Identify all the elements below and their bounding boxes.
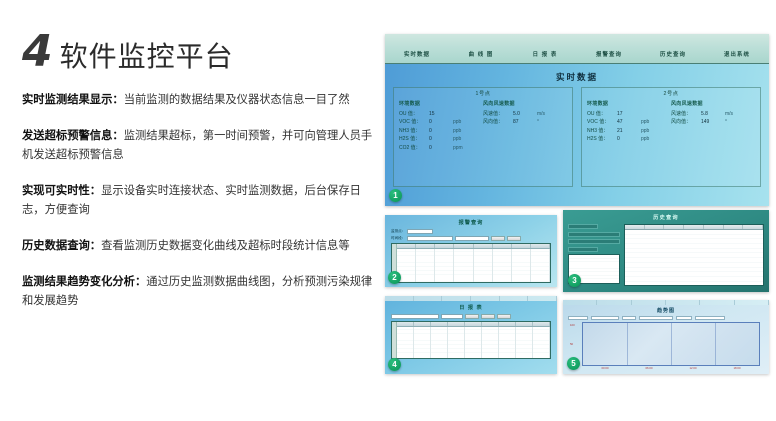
app-menubar: [563, 300, 769, 305]
data-row: VOC 值： 0 ppb: [399, 118, 483, 127]
query-button[interactable]: [676, 316, 692, 320]
menu-item[interactable]: [563, 300, 597, 305]
start-time-input[interactable]: [407, 236, 453, 241]
daily-report-title: 日 报 表: [391, 304, 551, 311]
table-columns: [397, 327, 550, 359]
alarm-query-title: 报警查询: [391, 219, 551, 226]
trend-chart-title: 趋势图: [568, 307, 764, 314]
env-data-group: 环境数据 OU 值： 15 VOC 值： 0 ppb: [399, 100, 483, 152]
date-input[interactable]: [591, 316, 619, 320]
query-button[interactable]: [465, 314, 479, 319]
menu-item[interactable]: [500, 296, 529, 301]
station-filter-label: 监测点：: [391, 229, 405, 234]
screenshot-realtime-data: 实时数据 曲 线 图 日 报 表 报警查询 历史查询 退出系统 实时数据 1号点…: [385, 34, 769, 206]
bullet-heading: 历史数据查询：: [22, 240, 101, 252]
data-value: 5.8: [701, 110, 725, 119]
wind-group-title: 风向风速数据: [483, 100, 567, 107]
trend-filter-row: [568, 316, 764, 320]
bullet-item: 历史数据查询：查看监测历史数据变化曲线及超标时段统计信息等: [22, 237, 382, 256]
env-group-title: 环境数据: [587, 100, 671, 107]
callout-badge-3: 3: [568, 274, 581, 287]
bullet-heading: 发送超标预警信息：: [22, 130, 124, 142]
table-columns: [397, 249, 550, 283]
station-select[interactable]: [407, 229, 433, 234]
station-panel-2: 2号点 环境数据 OU 值： 17 VOC 值： 47: [581, 87, 761, 187]
data-unit: ppb: [453, 118, 471, 127]
data-row: NH3 值： 21 ppb: [587, 127, 671, 136]
data-row: 风向值： 87 °: [483, 118, 567, 127]
data-label: VOC 值：: [587, 118, 617, 127]
callout-badge-4: 4: [388, 358, 401, 371]
range-input[interactable]: [639, 316, 673, 320]
menu-item-curve[interactable]: 曲 线 图: [449, 39, 513, 58]
data-label: 风速值：: [483, 110, 513, 119]
data-unit: ppb: [641, 135, 659, 144]
wind-group-title: 风向风速数据: [671, 100, 755, 107]
menu-item[interactable]: [597, 300, 631, 305]
y-tick-label: 50: [570, 342, 573, 346]
time-filter-label: 时间段：: [391, 236, 405, 241]
data-value: 0: [429, 144, 453, 153]
callout-badge-1: 1: [389, 189, 402, 202]
data-unit: ppb: [641, 127, 659, 136]
export-button[interactable]: [507, 236, 521, 241]
data-label: NH3 值：: [587, 127, 617, 136]
menu-item[interactable]: [385, 296, 414, 301]
menu-item[interactable]: [700, 300, 734, 305]
data-label: OU 值：: [587, 110, 617, 119]
menu-item-daily-report[interactable]: 日 报 表: [513, 39, 577, 58]
data-value: 15: [429, 110, 453, 119]
wind-data-group: 风向风速数据 风速值： 5.0 m/s 风向值： 87 °: [483, 100, 567, 152]
menu-item-alarm-query[interactable]: 报警查询: [577, 39, 641, 58]
menu-item[interactable]: [414, 296, 443, 301]
data-value: 5.0: [513, 110, 537, 119]
bullet-body: 当前监测的数据结果及仪器状态信息一目了然: [124, 94, 350, 106]
station-select[interactable]: [441, 314, 463, 319]
print-button[interactable]: [481, 314, 495, 319]
station-name: 1号点: [399, 90, 567, 97]
wind-data-group: 风向风速数据 风速值： 5.8 m/s 风向值： 149 °: [671, 100, 755, 144]
history-results-table[interactable]: [624, 224, 764, 286]
data-row: NH3 值： 0 ppb: [399, 127, 483, 136]
env-data-group: 环境数据 OU 值： 17 VOC 值： 47 ppb: [587, 100, 671, 144]
data-row: H2S 值： 0 ppb: [587, 135, 671, 144]
table-body: [397, 322, 550, 358]
menu-item[interactable]: [442, 296, 471, 301]
data-value: 87: [513, 118, 537, 127]
trend-chart-plot: 100 50 0 00:00 06:00 12:00 18:00: [582, 322, 760, 366]
bullet-heading: 监测结果趋势变化分析：: [22, 276, 146, 288]
data-label: H2S 值：: [587, 135, 617, 144]
menu-item[interactable]: [735, 300, 769, 305]
date-to-input[interactable]: [568, 239, 620, 244]
bullet-item: 监测结果趋势变化分析：通过历史监测数据曲线图，分析预测污染规律和发展趋势: [22, 273, 382, 311]
data-value: 0: [429, 118, 453, 127]
station-panel-1: 1号点 环境数据 OU 值： 15 VOC 值： 0: [393, 87, 573, 187]
data-label: OU 值：: [399, 110, 429, 119]
table-body: [397, 244, 550, 282]
menu-item-history-query[interactable]: 历史查询: [641, 39, 705, 58]
screenshot-alarm-query: 报警查询 监测点： 时间段： 2: [385, 215, 557, 287]
data-unit: [641, 110, 659, 119]
data-unit: m/s: [725, 110, 743, 119]
param-select[interactable]: [568, 247, 598, 252]
data-label: VOC 值：: [399, 118, 429, 127]
data-value: 0: [617, 135, 641, 144]
bullet-item: 实现可实时性：显示设备实时连接状态、实时监测数据，后台保存日志，方便查询: [22, 182, 382, 220]
export-button[interactable]: [497, 314, 511, 319]
screenshot-trend-chart: 趋势图 100 50 0 00:00 06:00 12:00 18:00: [563, 300, 769, 374]
data-unit: ppm: [453, 144, 471, 153]
end-time-input[interactable]: [455, 236, 489, 241]
date-from-input[interactable]: [568, 232, 620, 237]
menu-item-exit[interactable]: 退出系统: [705, 39, 769, 58]
table-header-row: [625, 225, 763, 230]
filter-row-station: 监测点：: [391, 229, 551, 234]
slide-number: 4: [22, 30, 52, 74]
data-label: CO2 值：: [399, 144, 429, 153]
bullet-item: 发送超标预警信息：监测结果超标，第一时间预警，并可向管理人员手机发送超标预警信息: [22, 127, 382, 165]
screenshot-daily-report: 日 报 表 4: [385, 296, 557, 374]
menu-item[interactable]: [528, 296, 557, 301]
realtime-body: 实时数据 1号点 环境数据 OU 值： 15: [385, 64, 769, 206]
x-tick-label: 18:00: [715, 366, 759, 370]
history-query-title: 历史查询: [568, 214, 764, 221]
query-button[interactable]: [491, 236, 505, 241]
data-label: NH3 值：: [399, 127, 429, 136]
data-label: H2S 值：: [399, 135, 429, 144]
alarm-results-table[interactable]: [391, 243, 551, 283]
x-tick-label: 00:00: [583, 366, 627, 370]
data-value: 149: [701, 118, 725, 127]
report-table[interactable]: [391, 321, 551, 359]
data-value: 17: [617, 110, 641, 119]
page-title: 4 软件监控平台: [22, 24, 382, 74]
station-name: 2号点: [587, 90, 755, 97]
app-menubar: [385, 296, 557, 301]
callout-badge-5: 5: [567, 357, 580, 370]
env-group-title: 环境数据: [399, 100, 483, 107]
screenshot-gallery: 实时数据 曲 线 图 日 报 表 报警查询 历史查询 退出系统 实时数据 1号点…: [385, 34, 770, 394]
data-unit: °: [537, 118, 555, 127]
slide-text-column: 4 软件监控平台 实时监测结果显示：当前监测的数据结果及仪器状态信息一目了然 发…: [22, 24, 382, 394]
realtime-title: 实时数据: [393, 71, 761, 83]
data-unit: ppb: [453, 127, 471, 136]
station-select[interactable]: [568, 316, 588, 320]
menu-item[interactable]: [471, 296, 500, 301]
data-row: 风向值： 149 °: [671, 118, 755, 127]
data-row: 风速值： 5.8 m/s: [671, 110, 755, 119]
data-label: 风向值：: [671, 118, 701, 127]
data-unit: m/s: [537, 110, 555, 119]
y-tick-label: 100: [570, 323, 575, 327]
slide-title-text: 软件监控平台: [60, 40, 234, 74]
data-unit: ppb: [453, 135, 471, 144]
menu-item[interactable]: [666, 300, 700, 305]
data-row: VOC 值： 47 ppb: [587, 118, 671, 127]
x-tick-label: 06:00: [627, 366, 671, 370]
data-row: OU 值： 15: [399, 110, 483, 119]
menu-item-realtime[interactable]: 实时数据: [385, 39, 449, 58]
data-row: 风速值： 5.0 m/s: [483, 110, 567, 119]
filter-row-time: 时间段：: [391, 236, 551, 241]
data-label: 风速值：: [671, 110, 701, 119]
bullet-heading: 实现可实时性：: [22, 185, 101, 197]
x-tick-label: 12:00: [671, 366, 715, 370]
data-label: 风向值：: [483, 118, 513, 127]
screenshot-history-query: 历史查询 3: [563, 210, 769, 292]
menu-item[interactable]: [632, 300, 666, 305]
data-value: 0: [429, 127, 453, 136]
date-input[interactable]: [391, 314, 439, 319]
x-axis-labels: 00:00 06:00 12:00 18:00: [583, 366, 759, 370]
legend-toggles[interactable]: [695, 316, 725, 320]
data-value: 0: [429, 135, 453, 144]
data-unit: [453, 110, 471, 119]
bullet-body: 查看监测历史数据变化曲线及超标时段统计信息等: [101, 240, 350, 252]
data-value: 47: [617, 118, 641, 127]
app-menubar: 实时数据 曲 线 图 日 报 表 报警查询 历史查询 退出系统: [385, 34, 769, 64]
data-value: 21: [617, 127, 641, 136]
station-select[interactable]: [568, 224, 598, 229]
bullet-item: 实时监测结果显示：当前监测的数据结果及仪器状态信息一目了然: [22, 91, 382, 110]
report-filter-row: [391, 314, 551, 319]
param-select[interactable]: [622, 316, 636, 320]
data-row: CO2 值： 0 ppm: [399, 144, 483, 153]
data-unit: ppb: [641, 118, 659, 127]
data-row: H2S 值： 0 ppb: [399, 135, 483, 144]
bullet-heading: 实时监测结果显示：: [22, 94, 124, 106]
data-unit: °: [725, 118, 743, 127]
data-row: OU 值： 17: [587, 110, 671, 119]
callout-badge-2: 2: [388, 271, 401, 284]
